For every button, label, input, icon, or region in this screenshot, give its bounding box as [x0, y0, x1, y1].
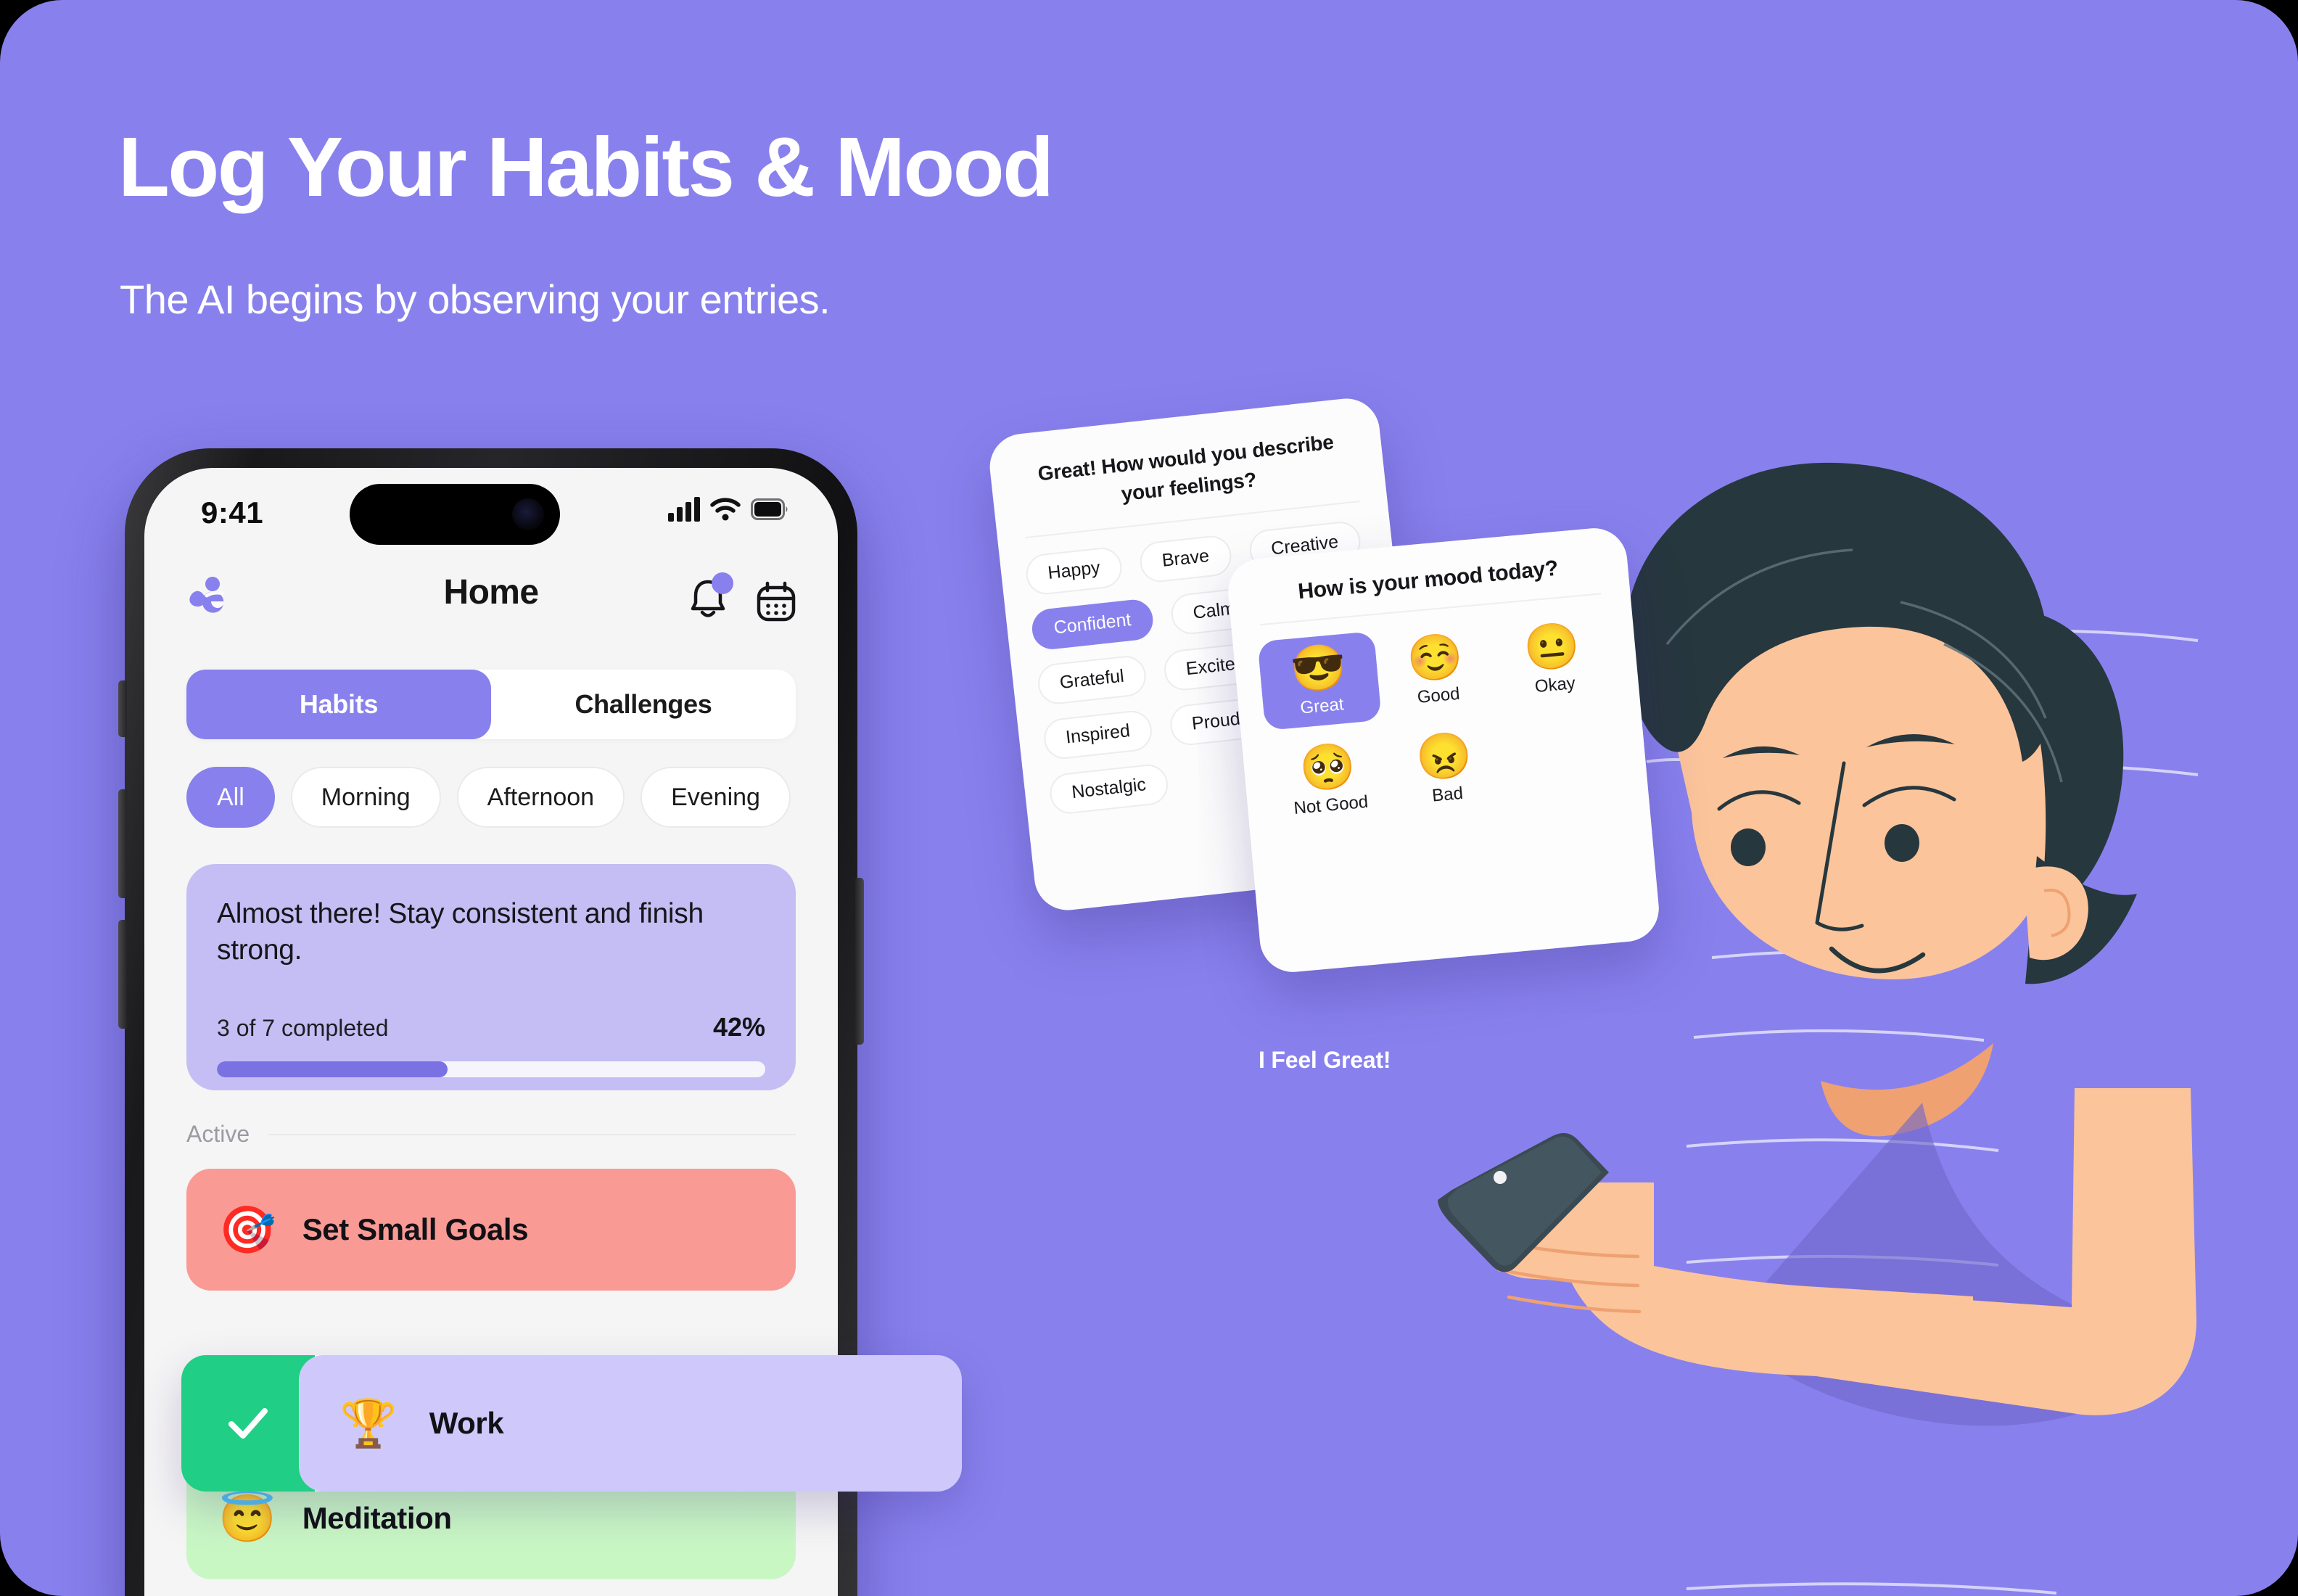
cellular-signal-icon — [668, 497, 700, 522]
trophy-icon: 🏆 — [339, 1400, 398, 1447]
status-indicators — [668, 497, 788, 522]
tab-challenges[interactable]: Challenges — [491, 670, 796, 739]
divider — [268, 1134, 796, 1135]
feeling-chip-inspired[interactable]: Inspired — [1042, 709, 1153, 761]
mood-option-great[interactable]: 😎 Great — [1257, 631, 1382, 731]
mood-label: Bad — [1431, 783, 1464, 807]
mood-card: How is your mood today? 😎 Great ☺️ Good … — [1225, 525, 1662, 975]
smiling-face-icon: ☺️ — [1405, 632, 1465, 684]
habit-complete-toggle[interactable] — [181, 1355, 315, 1492]
notification-badge — [712, 572, 733, 594]
neutral-face-icon: 😐 — [1522, 622, 1582, 674]
feel-great-caption: I Feel Great! — [1259, 1047, 1391, 1074]
phone-volume-down-button[interactable] — [118, 920, 127, 1029]
progress-bar-fill — [217, 1061, 448, 1077]
mood-label: Okay — [1534, 673, 1576, 697]
progress-percent: 42% — [713, 1012, 765, 1042]
mood-options: 😎 Great ☺️ Good 😐 Okay 🥺 Not Good 😠 Bad — [1257, 610, 1624, 830]
mood-label: Not Good — [1293, 792, 1370, 819]
section-label: Active — [186, 1121, 250, 1148]
feeling-chip-nostalgic[interactable]: Nostalgic — [1048, 762, 1170, 815]
header-actions — [687, 577, 797, 625]
dynamic-island — [350, 484, 560, 545]
progress-card: Almost there! Stay consistent and finish… — [186, 864, 796, 1090]
notification-bell-icon[interactable] — [687, 577, 729, 625]
sunglasses-face-icon: 😎 — [1288, 643, 1348, 695]
status-bar: 9:41 — [144, 468, 838, 561]
app-header: Home — [144, 561, 838, 641]
time-filter-group: All Morning Afternoon Evening — [186, 767, 791, 828]
feeling-chip-brave[interactable]: Brave — [1138, 533, 1233, 583]
status-time: 9:41 — [201, 495, 263, 530]
mood-option-bad[interactable]: 😠 Bad — [1383, 720, 1507, 819]
mood-option-not-good[interactable]: 🥺 Not Good — [1267, 731, 1391, 830]
feeling-chip-happy[interactable]: Happy — [1024, 546, 1124, 596]
filter-afternoon[interactable]: Afternoon — [457, 767, 625, 828]
promo-canvas: Log Your Habits & Mood The AI begins by … — [0, 0, 2298, 1596]
progress-count: 3 of 7 completed — [217, 1015, 389, 1042]
mood-question: How is your mood today? — [1252, 552, 1604, 609]
progress-stats: 3 of 7 completed 42% — [217, 1012, 765, 1042]
segmented-control: Habits Challenges — [186, 670, 796, 739]
smiling-halo-icon: 😇 — [218, 1495, 276, 1542]
phone-mute-button[interactable] — [118, 680, 127, 737]
feeling-chip-confident[interactable]: Confident — [1030, 597, 1155, 651]
section-header-active: Active — [186, 1121, 796, 1148]
checkmark-icon — [217, 1392, 279, 1455]
habit-label: Work — [429, 1406, 504, 1441]
mood-label: Great — [1299, 694, 1344, 718]
feeling-chip-grateful[interactable]: Grateful — [1036, 654, 1148, 706]
mood-option-okay[interactable]: 😐 Okay — [1491, 610, 1615, 709]
pleading-face-icon: 🥺 — [1298, 741, 1358, 794]
target-icon: 🎯 — [218, 1206, 276, 1253]
calendar-icon[interactable] — [755, 580, 797, 623]
page-subtitle: The AI begins by observing your entries. — [120, 276, 830, 323]
mood-option-good[interactable]: ☺️ Good — [1374, 620, 1499, 720]
habit-row-body: 🏆 Work — [299, 1355, 962, 1492]
phone-power-button[interactable] — [855, 878, 864, 1045]
progress-bar — [217, 1061, 765, 1077]
habit-row-work[interactable]: 🏆 Work — [181, 1355, 962, 1492]
page-title: Log Your Habits & Mood — [118, 123, 1053, 212]
habit-row-set-small-goals[interactable]: 🎯 Set Small Goals — [186, 1169, 796, 1291]
habit-label: Set Small Goals — [302, 1212, 528, 1247]
angry-face-icon: 😠 — [1414, 731, 1474, 783]
wifi-icon — [710, 498, 741, 521]
phone-volume-up-button[interactable] — [118, 789, 127, 898]
filter-evening[interactable]: Evening — [641, 767, 791, 828]
tab-habits[interactable]: Habits — [186, 670, 491, 739]
filter-all[interactable]: All — [186, 767, 275, 828]
filter-morning[interactable]: Morning — [291, 767, 441, 828]
habit-label: Meditation — [302, 1501, 452, 1536]
progress-message: Almost there! Stay consistent and finish… — [217, 896, 765, 968]
mood-label: Good — [1417, 684, 1461, 708]
front-camera-icon — [512, 498, 544, 530]
battery-icon — [751, 498, 788, 520]
